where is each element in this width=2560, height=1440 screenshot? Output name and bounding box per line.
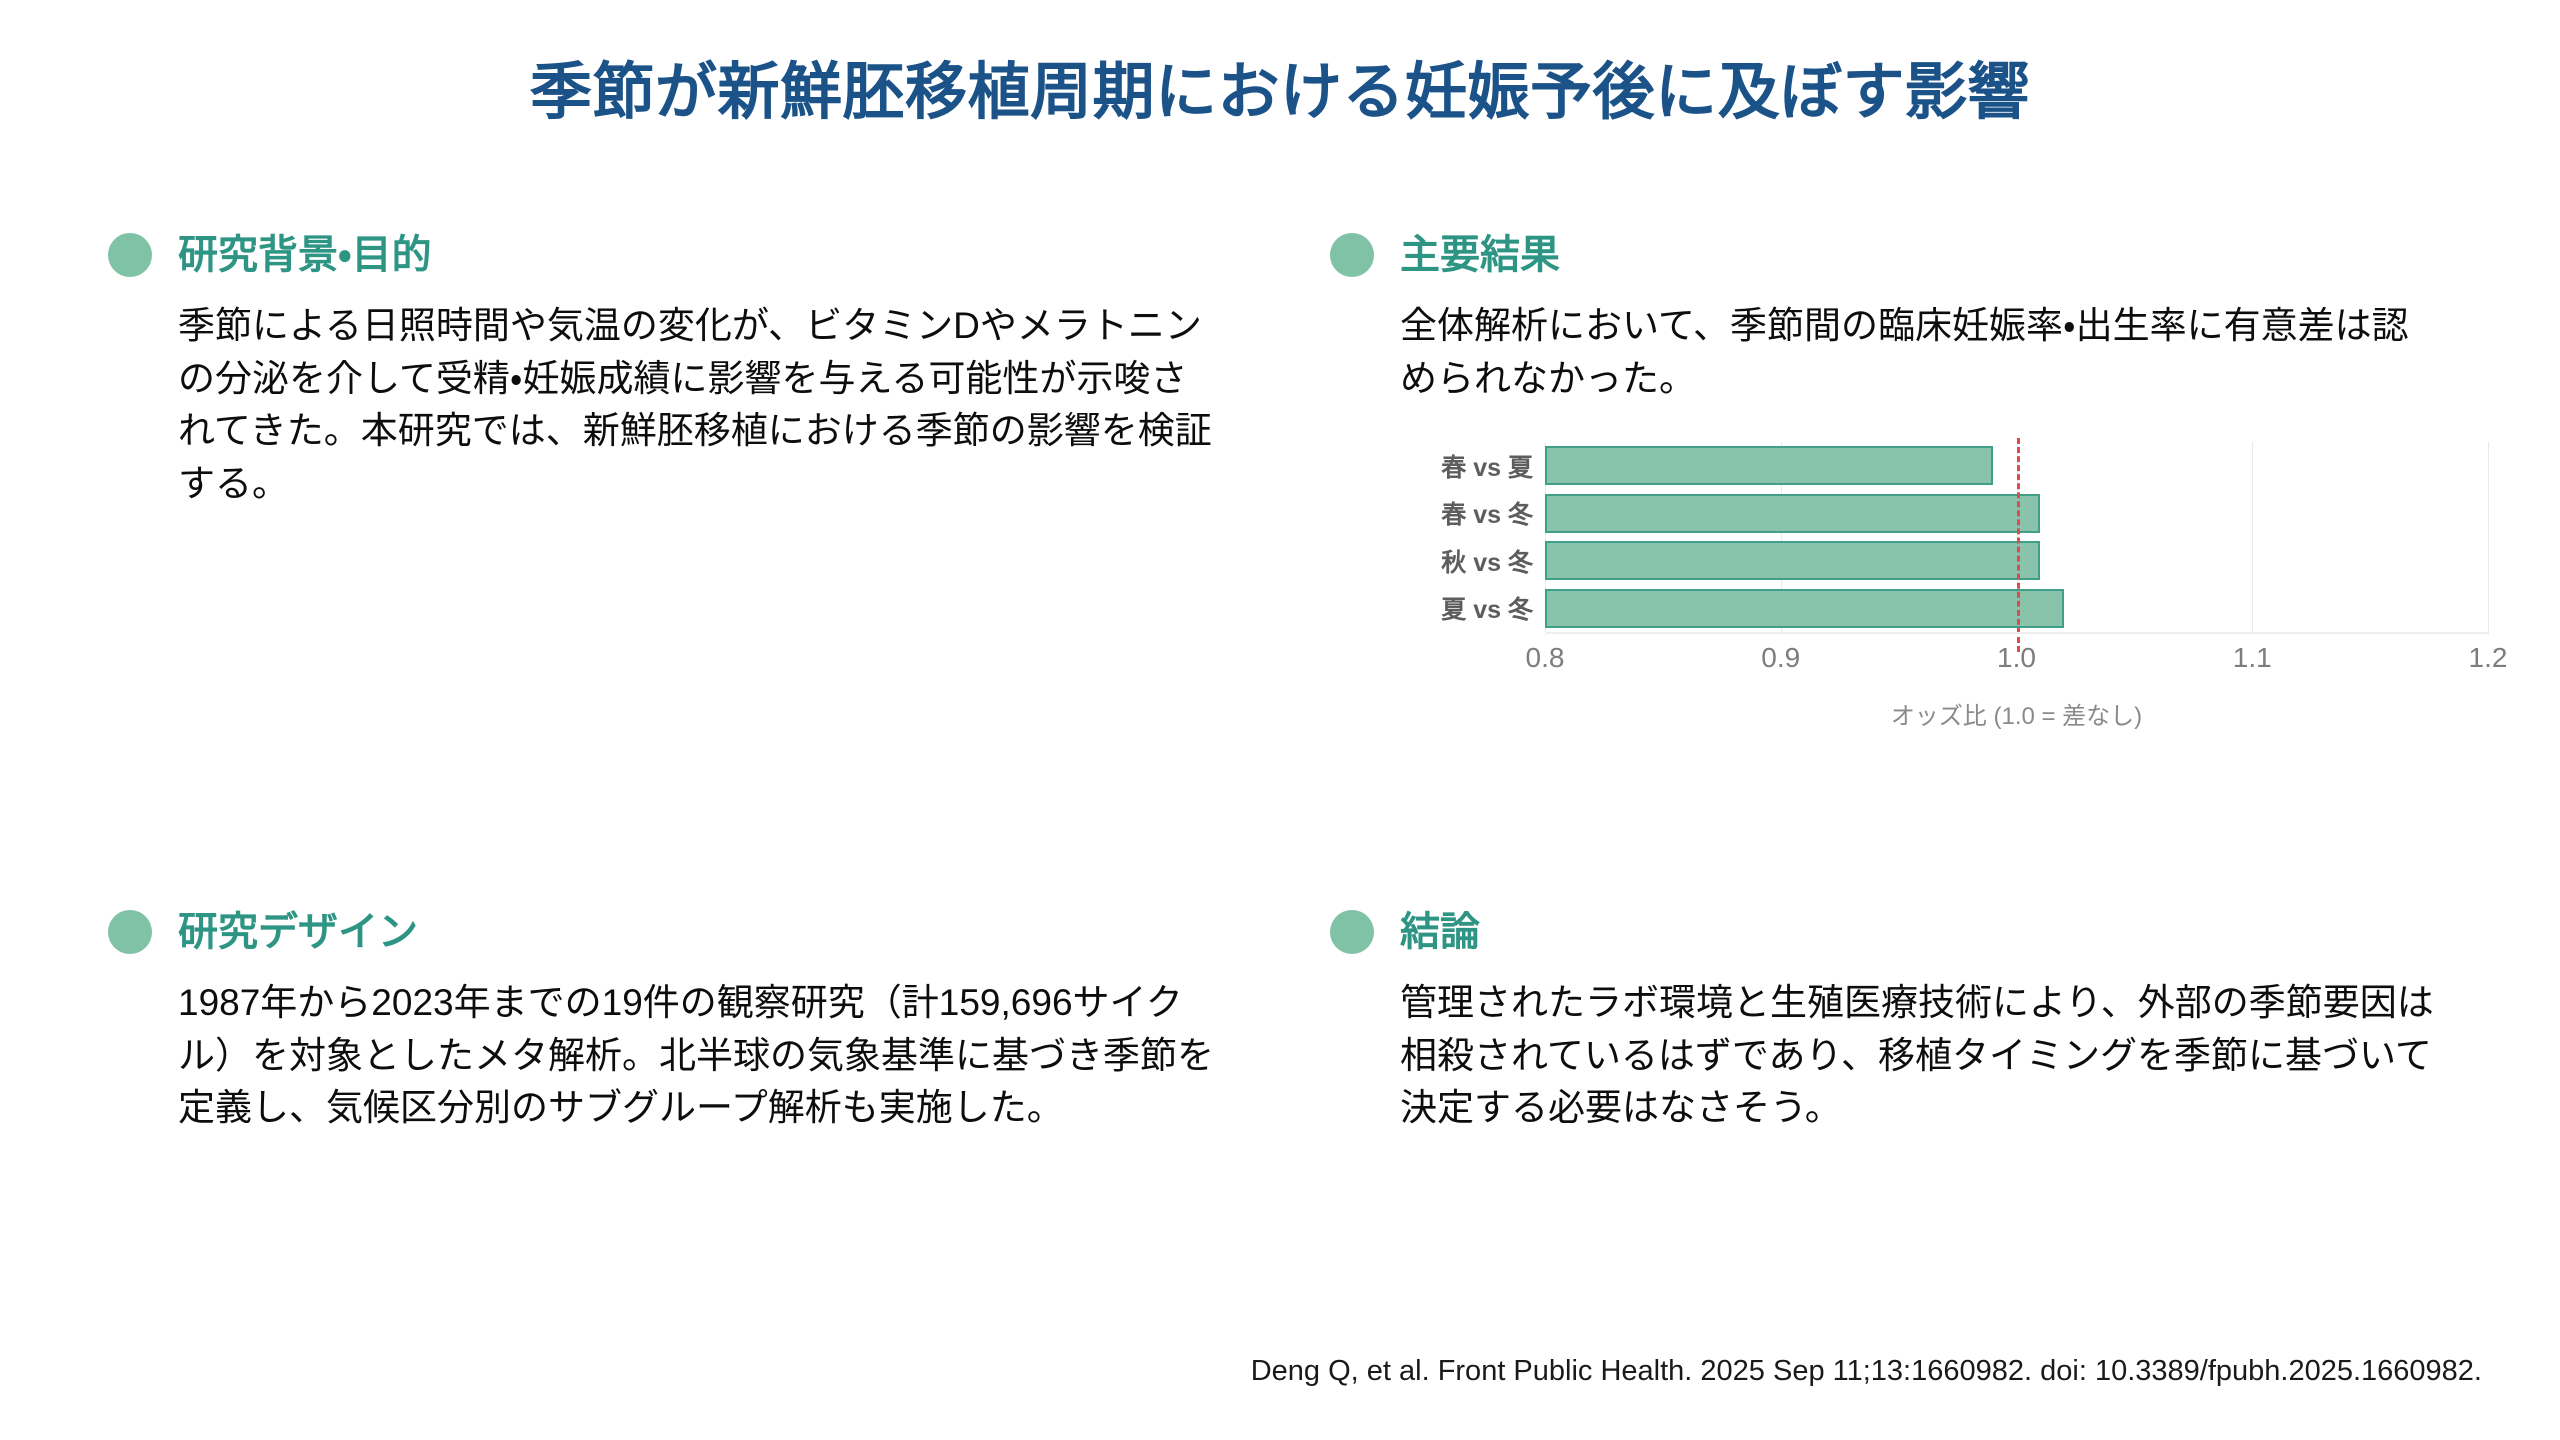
chart-x-tick-label: 1.2 [2469, 642, 2508, 674]
citation-text: Deng Q, et al. Front Public Health. 2025… [0, 1355, 2482, 1388]
chart-bar: 夏 vs 冬 [1545, 589, 2064, 628]
section-background: 研究背景・目的 季節による日照時間や気温の変化が、ビタミンDやメラトニンの分泌を… [108, 228, 1288, 510]
section-results-body: 全体解析において、季節間の臨床妊娠率・出生率に有意差は認められなかった。 [1400, 300, 2440, 405]
chart-x-axis-baseline [1545, 632, 2488, 634]
chart-category-label: 春 vs 夏 [1441, 448, 1533, 484]
odds-ratio-bar-chart: 春 vs 夏春 vs 冬秋 vs 冬夏 vs 冬 オッズ比 (1.0 = 差なし… [1390, 430, 2500, 760]
bullet-circle-icon [108, 233, 152, 277]
bullet-circle-icon [108, 910, 152, 954]
section-background-title: 研究背景・目的 [178, 235, 432, 275]
section-results-header: 主要結果 [1330, 228, 2510, 282]
chart-null-reference-line [2017, 438, 2020, 652]
chart-bar: 春 vs 冬 [1545, 494, 2040, 533]
section-design: 研究デザイン 1987年から2023年までの19件の観察研究（計159,696サ… [108, 905, 1288, 1135]
section-conclusion: 結論 管理されたラボ環境と生殖医療技術により、外部の季節要因は相殺されているはず… [1330, 905, 2510, 1135]
chart-category-label: 夏 vs 冬 [1441, 590, 1533, 626]
chart-x-tick-label: 1.0 [1997, 642, 2036, 674]
section-conclusion-title: 結論 [1400, 912, 1480, 952]
section-background-header: 研究背景・目的 [108, 228, 1288, 282]
chart-x-tick-label: 0.9 [1761, 642, 1800, 674]
chart-plot: 春 vs 夏春 vs 冬秋 vs 冬夏 vs 冬 オッズ比 (1.0 = 差なし… [1390, 430, 2500, 760]
section-results-title: 主要結果 [1400, 235, 1560, 275]
section-background-body: 季節による日照時間や気温の変化が、ビタミンDやメラトニンの分泌を介して受精・妊娠… [178, 300, 1218, 510]
section-design-body: 1987年から2023年までの19件の観察研究（計159,696サイクル）を対象… [178, 977, 1218, 1135]
chart-x-axis-title: オッズ比 (1.0 = 差なし) [1545, 696, 2488, 731]
chart-category-label: 春 vs 冬 [1441, 495, 1533, 531]
chart-x-tick-label: 0.8 [1526, 642, 1565, 674]
chart-gridline [2488, 442, 2489, 635]
section-design-header: 研究デザイン [108, 905, 1288, 959]
bullet-circle-icon [1330, 233, 1374, 277]
chart-category-label: 秋 vs 冬 [1441, 543, 1533, 579]
chart-plot-area: 春 vs 夏春 vs 冬秋 vs 冬夏 vs 冬 [1545, 442, 2488, 632]
section-conclusion-header: 結論 [1330, 905, 2510, 959]
page-title: 季節が新鮮胚移植周期における妊娠予後に及ぼす影響 [0, 58, 2560, 127]
section-results: 主要結果 全体解析において、季節間の臨床妊娠率・出生率に有意差は認められなかった… [1330, 228, 2510, 405]
section-conclusion-body: 管理されたラボ環境と生殖医療技術により、外部の季節要因は相殺されているはずであり… [1400, 977, 2440, 1135]
chart-bar: 春 vs 夏 [1545, 446, 1993, 485]
chart-bar: 秋 vs 冬 [1545, 541, 2040, 580]
bullet-circle-icon [1330, 910, 1374, 954]
section-design-title: 研究デザイン [178, 912, 418, 952]
chart-x-tick-label: 1.1 [2233, 642, 2272, 674]
